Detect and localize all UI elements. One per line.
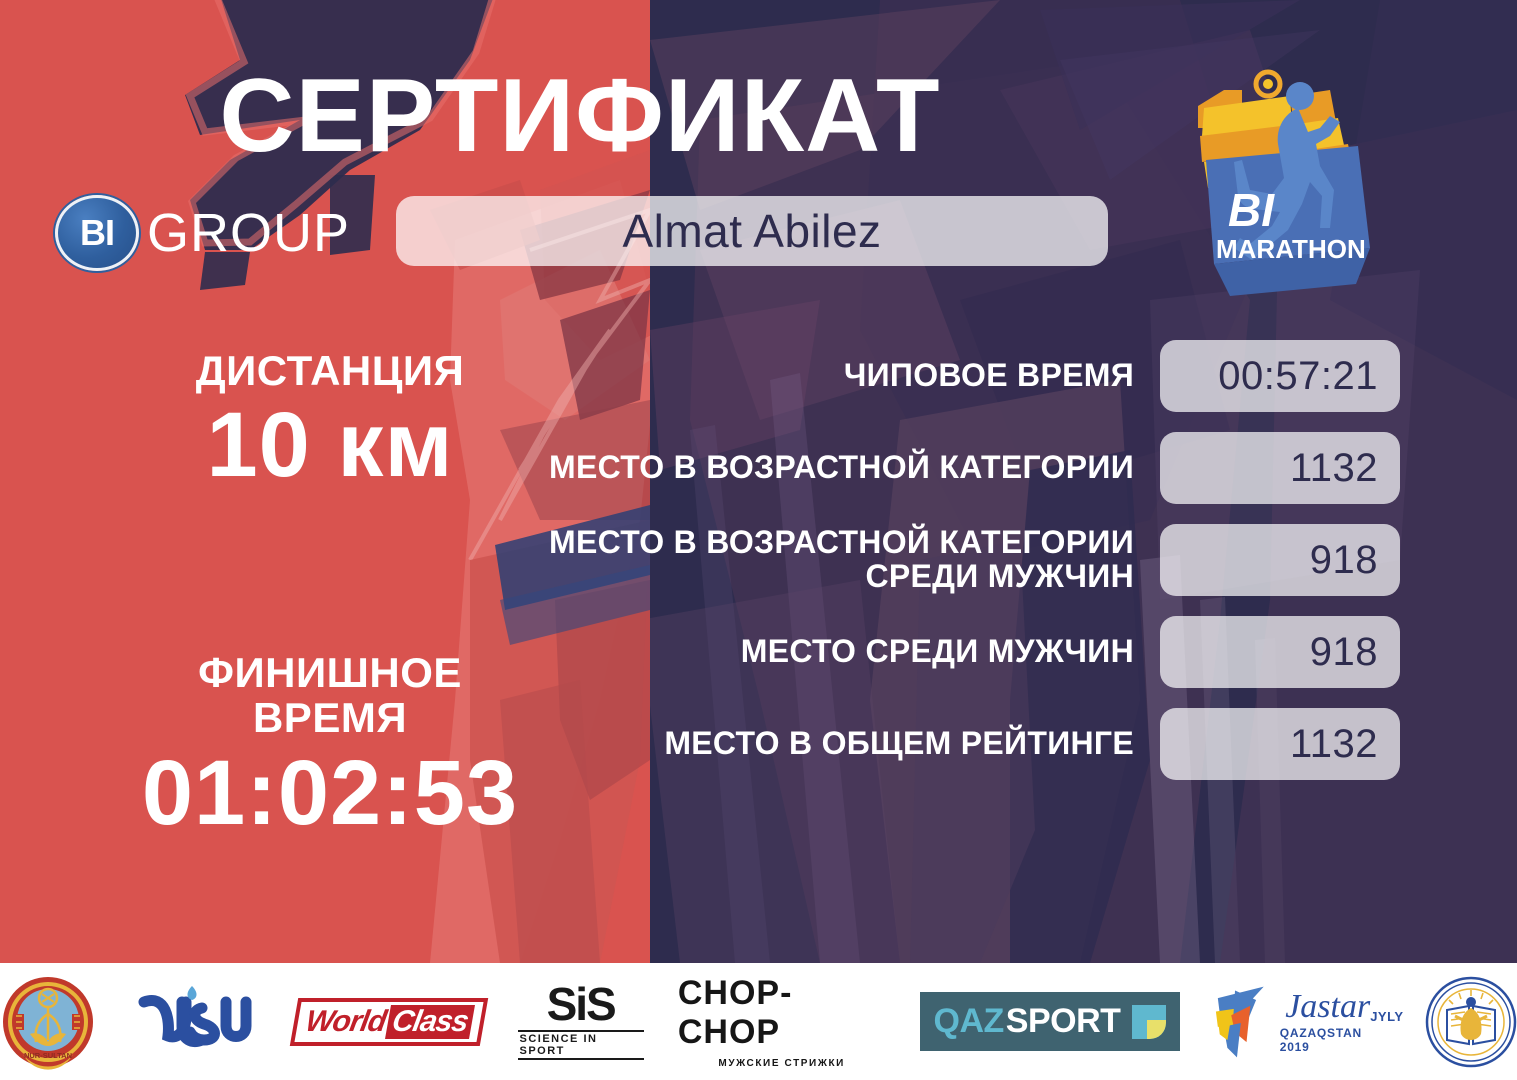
participant-name-field[interactable]: Almat Abilez (396, 196, 1108, 266)
qazsport-word1: QAZ (934, 1002, 1004, 1041)
stat-value: 1132 (1290, 446, 1378, 491)
sis-wordmark: SiS (547, 983, 615, 1027)
stat-value-pill[interactable]: 00:57:21 (1160, 340, 1400, 412)
stat-label: МЕСТО СРЕДИ МУЖЧИН (520, 635, 1160, 669)
stat-value-pill[interactable]: 1132 (1160, 432, 1400, 504)
world-class-word1: World (303, 1005, 388, 1039)
bi-marathon-logo: BI MARATHON (1180, 62, 1390, 302)
jastar-mark-icon (1214, 979, 1273, 1065)
stat-row: МЕСТО СРЕДИ МУЖЧИН 918 (520, 616, 1400, 688)
qazsport-mark-icon (1132, 1005, 1166, 1039)
stat-value-pill[interactable]: 918 (1160, 616, 1400, 688)
bi-group-wordmark: GROUP (147, 202, 350, 264)
stat-row: МЕСТО В ОБЩЕМ РЕЙТИНГЕ 1132 (520, 708, 1400, 780)
stat-label: МЕСТО В ВОЗРАСТНОЙ КАТЕГОРИИ СРЕДИ МУЖЧИ… (520, 526, 1160, 594)
world-class-word2: Class (385, 1005, 474, 1039)
certificate-canvas: СЕРТИФИКАТ BI GROUP Almat Abilez (0, 0, 1517, 1080)
sponsor-logo-qazsport: QAZ SPORT (920, 974, 1181, 1070)
sponsor-logo-chop-chop: CHOP-CHOP МУЖСКИЕ СТРИЖКИ (678, 974, 886, 1070)
stat-value-pill[interactable]: 1132 (1160, 708, 1400, 780)
stat-label: МЕСТО В ВОЗРАСТНОЙ КАТЕГОРИИ (520, 451, 1160, 485)
sponsor-logo-jastar-jyly: Jastar JYLY QAZAQSTAN 2019 (1214, 974, 1391, 1070)
jastar-subtitle: QAZAQSTAN 2019 (1280, 1026, 1391, 1054)
stat-value-pill[interactable]: 918 (1160, 524, 1400, 596)
sponsor-logo-world-class: World Class (294, 974, 484, 1070)
sponsor-logo-nur-sultan: NUR-SULTAN (0, 974, 96, 1070)
svg-text:MARATHON: MARATHON (1216, 234, 1366, 264)
jastar-wordmark: Jastar (1285, 990, 1370, 1024)
stat-row: МЕСТО В ВОЗРАСТНОЙ КАТЕГОРИИ СРЕДИ МУЖЧИ… (520, 524, 1400, 596)
stat-value: 00:57:21 (1218, 354, 1378, 399)
stat-label: МЕСТО В ОБЩЕМ РЕЙТИНГЕ (520, 727, 1160, 761)
stat-value: 918 (1310, 538, 1378, 583)
right-stats-list: ЧИПОВОЕ ВРЕМЯ 00:57:21 МЕСТО В ВОЗРАСТНО… (520, 340, 1400, 800)
stat-value: 918 (1310, 630, 1378, 675)
page-title: СЕРТИФИКАТ (0, 64, 1160, 168)
sponsor-logo-ministry-seal (1425, 974, 1517, 1070)
stat-row: ЧИПОВОЕ ВРЕМЯ 00:57:21 (520, 340, 1400, 412)
sponsor-logo-asu (130, 974, 260, 1070)
sponsor-logo-sis: SiS SCIENCE IN SPORT (518, 974, 644, 1070)
qazsport-word2: SPORT (1006, 1002, 1121, 1041)
bi-group-logo: BI GROUP (55, 195, 350, 271)
asu-logo-icon (130, 980, 260, 1064)
chop-chop-tagline: МУЖСКИЕ СТРИЖКИ (718, 1058, 845, 1069)
world-class-wordmark: World Class (290, 998, 488, 1046)
nur-sultan-label: NUR-SULTAN (24, 1051, 72, 1060)
bi-badge-icon: BI (55, 195, 139, 271)
chop-chop-wordmark: CHOP-CHOP (678, 974, 886, 1052)
sponsor-bar: NUR-SULTAN World Class SiS SCIENC (0, 963, 1517, 1080)
participant-name-text: Almat Abilez (622, 204, 881, 258)
ministry-seal-icon (1425, 976, 1517, 1068)
stat-label: ЧИПОВОЕ ВРЕМЯ (520, 359, 1160, 393)
qazsport-wordmark: QAZ SPORT (920, 992, 1181, 1051)
nur-sultan-emblem-icon: NUR-SULTAN (0, 974, 96, 1070)
svg-text:BI: BI (1228, 184, 1275, 236)
sis-tagline: SCIENCE IN SPORT (518, 1030, 644, 1060)
bi-marathon-logo-icon: BI MARATHON (1180, 62, 1390, 302)
jastar-jyly-label: JYLY (1370, 1009, 1403, 1024)
stat-value: 1132 (1290, 722, 1378, 767)
stat-row: МЕСТО В ВОЗРАСТНОЙ КАТЕГОРИИ 1132 (520, 432, 1400, 504)
